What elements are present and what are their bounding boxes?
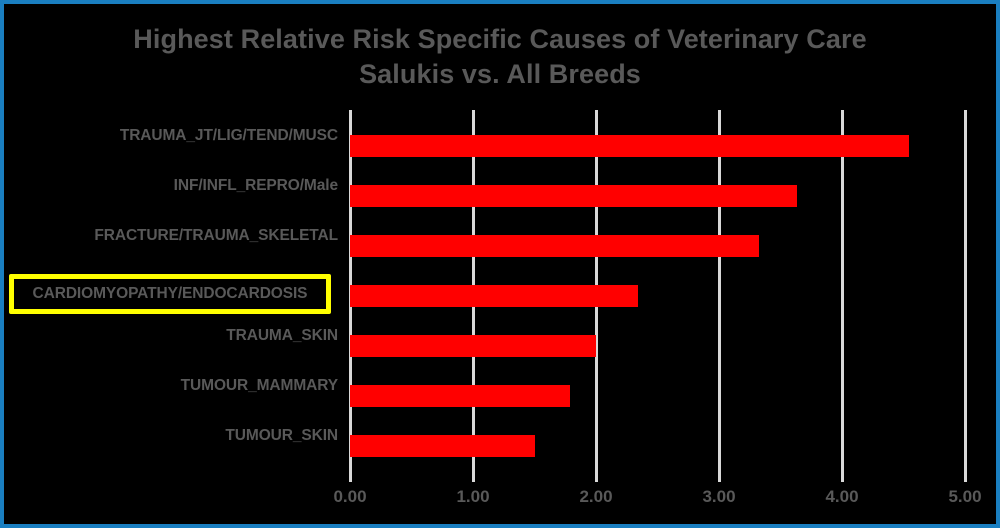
bar[interactable] [350, 235, 759, 257]
category-label: FRACTURE/TRAUMA_SKELETAL [4, 225, 338, 247]
chart-container: Highest Relative Risk Specific Causes of… [0, 0, 1000, 528]
xtick-label: 2.00 [556, 487, 636, 507]
bar[interactable] [350, 185, 797, 207]
bar-row: TRAUMA_JT/LIG/TEND/MUSC [4, 125, 996, 175]
bar[interactable] [350, 285, 638, 307]
xtick-label: 0.00 [310, 487, 390, 507]
bar-row: INF/INFL_REPRO/Male [4, 175, 996, 225]
xtick-label: 5.00 [925, 487, 1000, 507]
xtick-label: 3.00 [679, 487, 759, 507]
xtick-label: 1.00 [433, 487, 513, 507]
bar[interactable] [350, 135, 909, 157]
category-label: TRAUMA_SKIN [4, 325, 338, 347]
plot-area: TRAUMA_JT/LIG/TEND/MUSC INF/INFL_REPRO/M… [4, 4, 996, 524]
category-label: INF/INFL_REPRO/Male [4, 175, 338, 197]
category-label: TUMOUR_MAMMARY [4, 375, 338, 397]
bar-row: FRACTURE/TRAUMA_SKELETAL [4, 225, 996, 275]
bar[interactable] [350, 385, 570, 407]
category-label: TRAUMA_JT/LIG/TEND/MUSC [4, 125, 338, 147]
bar-row: TUMOUR_MAMMARY [4, 375, 996, 425]
bar[interactable] [350, 335, 596, 357]
bar[interactable] [350, 435, 535, 457]
xtick-label: 4.00 [802, 487, 882, 507]
bar-row: CARDIOMYOPATHY/ENDOCARDOSIS [4, 275, 996, 325]
category-label: TUMOUR_SKIN [4, 425, 338, 447]
bar-row: TUMOUR_SKIN [4, 425, 996, 475]
bar-row: TRAUMA_SKIN [4, 325, 996, 375]
category-label-highlighted: CARDIOMYOPATHY/ENDOCARDOSIS [10, 283, 330, 305]
